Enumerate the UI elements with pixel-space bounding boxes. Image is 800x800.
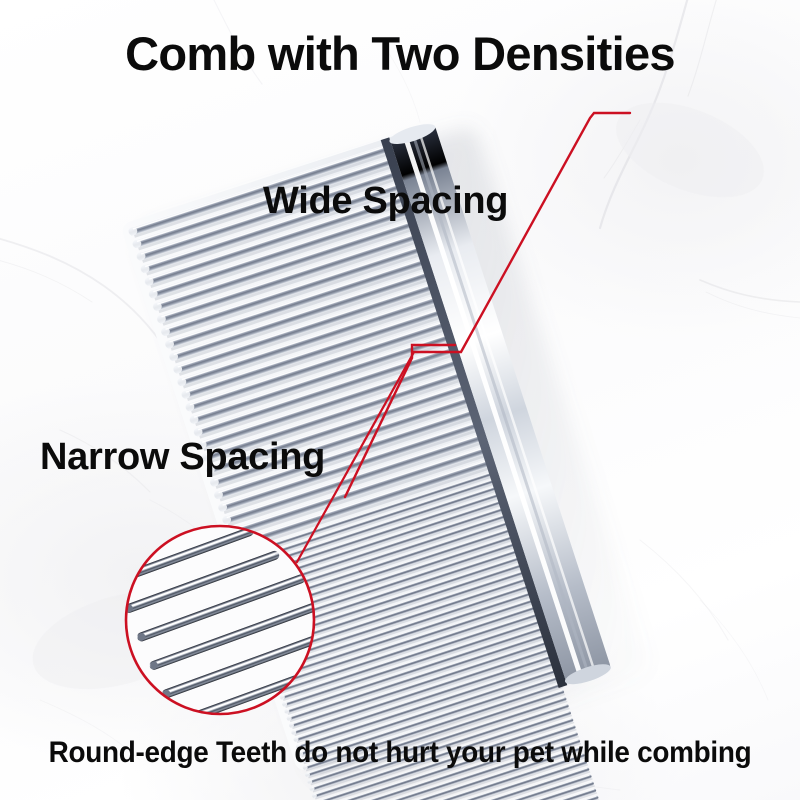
magnifier-content (111, 499, 383, 732)
product-infographic: Comb with Two Densities Wide Spacing Nar… (0, 0, 800, 800)
wide-spacing-bracket (412, 113, 630, 352)
annotation-overlay (0, 0, 800, 800)
bottom-caption: Round-edge Teeth do not hurt your pet wh… (49, 736, 752, 770)
narrow-spacing-label: Narrow Spacing (40, 436, 325, 479)
narrow-spacing-bracket (345, 345, 455, 497)
page-title: Comb with Two Densities (125, 26, 675, 81)
wide-spacing-label: Wide Spacing (263, 180, 508, 223)
